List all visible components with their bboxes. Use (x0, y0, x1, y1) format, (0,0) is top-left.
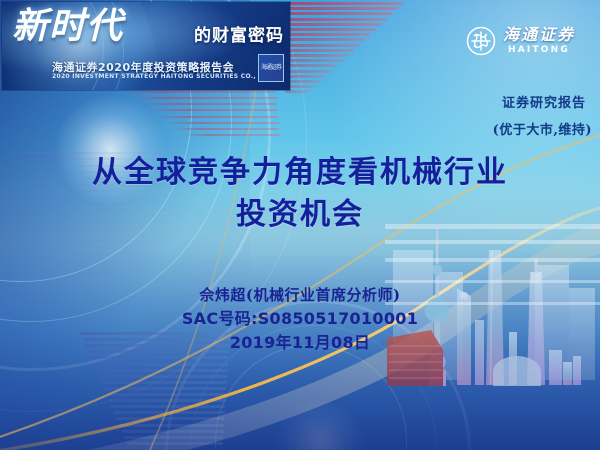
presentation-slide: 新时代 的财富密码 海通证券2020年度投资策略报告会 2020 INVESTM… (0, 0, 600, 450)
presenter-block: 佘炜超(机械行业首席分析师) SAC号码:S0850517010001 2019… (0, 283, 600, 355)
decor-red-stripe-top (285, 0, 465, 95)
presenter-sac-number: SAC号码:S0850517010001 (0, 307, 600, 331)
haitong-logo: 海通证券 HAITONG (466, 26, 575, 56)
report-kind-label: 证券研究报告 (502, 92, 586, 111)
tower-block (573, 356, 581, 385)
banner-headline-tail: 的财富密码 (194, 28, 284, 45)
banner-headline-calligraphy: 新时代 (12, 8, 123, 44)
haitong-knot-emblem-icon (466, 26, 496, 56)
presentation-date: 2019年11月08日 (0, 331, 600, 355)
conference-banner: 新时代 的财富密码 海通证券2020年度投资策略报告会 2020 INVESTM… (2, 2, 290, 90)
tower-block (549, 350, 562, 385)
title-line-2: 投资机会 (0, 194, 600, 236)
logo-name-cn: 海通证券 (503, 27, 575, 43)
banner-seal-stamp: 海通证券 (258, 54, 284, 82)
tower-block (563, 362, 572, 385)
presenter-name-role: 佘炜超(机械行业首席分析师) (0, 283, 600, 307)
title-line-1: 从全球竞争力角度看机械行业 (0, 152, 600, 194)
logo-text-block: 海通证券 HAITONG (503, 27, 575, 55)
slide-title: 从全球竞争力角度看机械行业 投资机会 (0, 152, 600, 236)
banner-subtitle-en: 2020 INVESTMENT STRATEGY HAITONG SECURIT… (52, 73, 274, 80)
logo-name-en: HAITONG (508, 46, 570, 55)
investment-rating-label: (优于大市,维持) (493, 119, 592, 138)
